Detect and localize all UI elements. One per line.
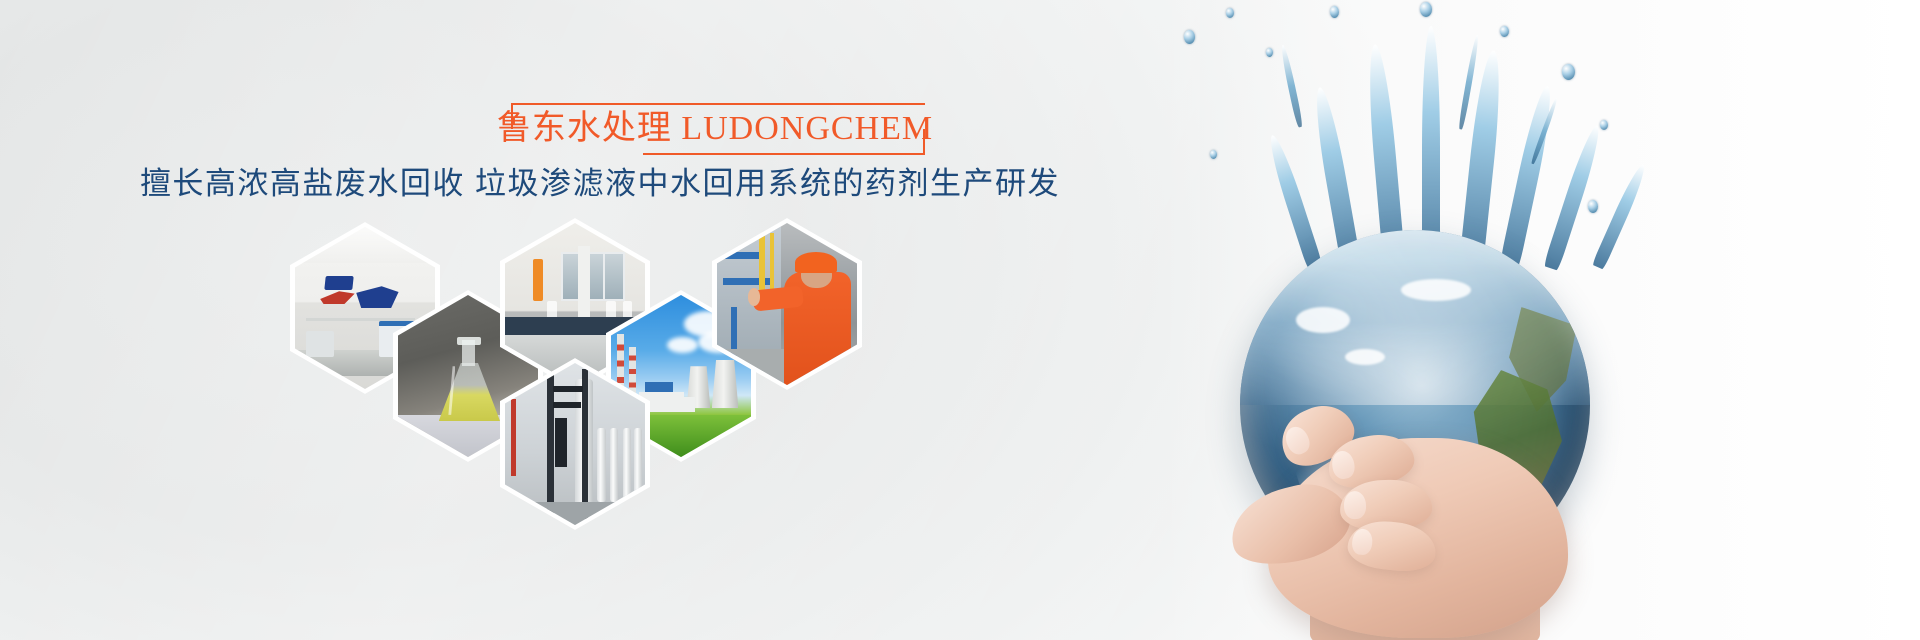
water-globe-illustration	[1100, 0, 1920, 640]
hands-holding-globe	[1160, 392, 1640, 640]
hero-banner: 鲁东水处理 LUDONGCHEM 擅长高浓高盐废水回收 垃圾渗滤液中水回用系统的…	[0, 0, 1920, 640]
hexagon-gallery	[0, 0, 1200, 640]
